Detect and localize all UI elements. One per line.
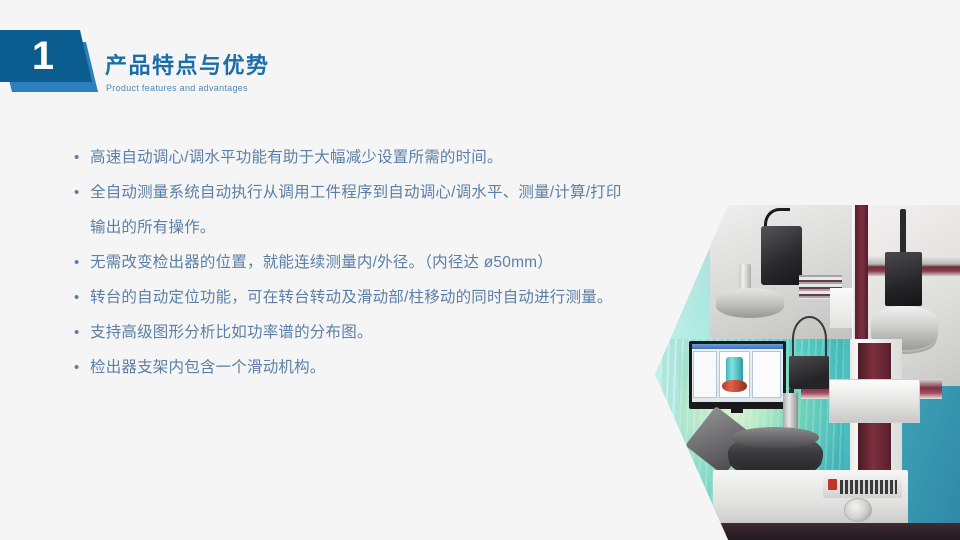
probe-cable (792, 316, 827, 362)
bullet-marker-icon: • (72, 140, 90, 175)
bullet-marker-icon: • (72, 315, 90, 350)
machine-detector-head (789, 356, 829, 390)
software-titlebar (692, 344, 784, 349)
list-item: • 检出器支架内包含一个滑动机构。 (72, 350, 632, 385)
list-item-text: 高速自动调心/调水平功能有助于大幅减少设置所需的时间。 (90, 140, 632, 175)
inset-probe-head (885, 252, 922, 306)
photo-inset-detector-closeup (710, 205, 853, 339)
machine-control-keypad (823, 476, 902, 498)
machine-granite-plinth (698, 523, 960, 540)
list-item-text: 检出器支架内包含一个滑动机构。 (90, 350, 632, 385)
list-item: • 无需改变检出器的位置，就能连续测量内/外径。（内径达 ø50mm） (72, 245, 632, 280)
product-photo (655, 205, 960, 540)
machine-carriage (829, 379, 921, 423)
machine-monitor (689, 341, 787, 410)
list-item-text: 转台的自动定位功能，可在转台转动及滑动部/柱移动的同时自动进行测量。 (90, 280, 632, 315)
list-item: • 高速自动调心/调水平功能有助于大幅减少设置所需的时间。 (72, 140, 632, 175)
page-subtitle: Product features and advantages (106, 82, 270, 94)
monitor-screen (692, 344, 784, 403)
keypad-keys (840, 480, 897, 494)
software-left-pane (693, 351, 717, 398)
software-3d-part-body (726, 357, 742, 382)
bullet-marker-icon: • (72, 175, 90, 210)
title-block: 产品特点与优势 Product features and advantages (105, 52, 270, 94)
bullet-marker-icon: • (72, 280, 90, 315)
software-3d-part-base (722, 380, 748, 392)
software-right-pane (752, 351, 781, 398)
inset-rotary-plate (716, 288, 785, 317)
list-item-text: 支持高级图形分析比如功率谱的分布图。 (90, 315, 632, 350)
emergency-stop-button (828, 479, 838, 490)
bullet-marker-icon: • (72, 350, 90, 385)
slide-root: 1 产品特点与优势 Product features and advantage… (0, 0, 960, 540)
list-item-text: 全自动测量系统自动执行从调用工件程序到自动调心/调水平、测量/计算/打印输出的所… (90, 175, 632, 245)
list-item-text: 无需改变检出器的位置，就能连续测量内/外径。（内径达 ø50mm） (90, 245, 632, 280)
list-item: • 全自动测量系统自动执行从调用工件程序到自动调心/调水平、测量/计算/打印输出… (72, 175, 632, 245)
inset-accessory-box (830, 288, 853, 328)
monitor-stand (731, 409, 743, 413)
rotary-table-top (732, 427, 819, 448)
list-item: • 支持高级图形分析比如功率谱的分布图。 (72, 315, 632, 350)
inset-detector-head (761, 226, 801, 285)
bullet-marker-icon: • (72, 245, 90, 280)
slide-header: 1 产品特点与优势 Product features and advantage… (0, 0, 420, 120)
page-title: 产品特点与优势 (105, 52, 270, 80)
section-number-badge: 1 (0, 30, 110, 92)
list-item: • 转台的自动定位功能，可在转台转动及滑动部/柱移动的同时自动进行测量。 (72, 280, 632, 315)
badge-number-label: 1 (0, 30, 86, 82)
machine-handwheel (844, 498, 871, 521)
feature-bullet-list: • 高速自动调心/调水平功能有助于大幅减少设置所需的时间。 • 全自动测量系统自… (72, 140, 632, 385)
